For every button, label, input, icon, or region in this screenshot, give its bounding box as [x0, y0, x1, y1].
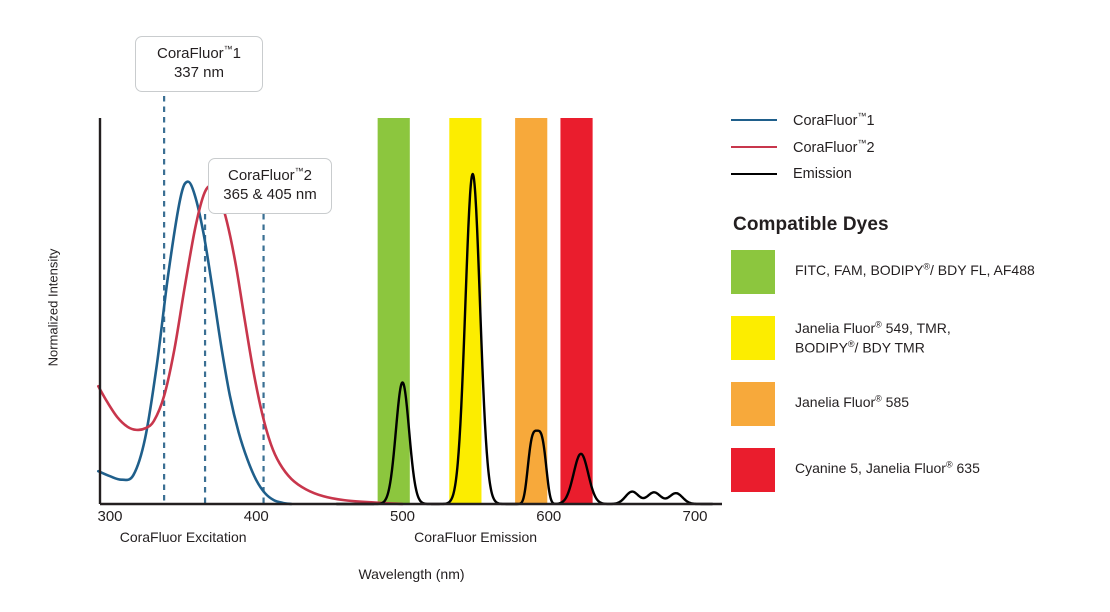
- x-tick-600: 600: [519, 508, 579, 525]
- legend-item-Emission[interactable]: Emission: [731, 160, 1091, 187]
- dye-label: FITC, FAM, BODIPY®/ BDY FL, AF488: [795, 250, 1035, 280]
- callout-cf2-line2: 365 & 405 nm: [221, 186, 319, 205]
- x-tick-300: 300: [80, 508, 140, 525]
- dye-row[interactable]: Janelia Fluor® 585: [731, 382, 1091, 426]
- dye-color-swatch: [731, 250, 775, 294]
- legend-item-CoraFluor1[interactable]: CoraFluor™1: [731, 106, 1091, 133]
- y-axis-label: Normalized Intensity: [46, 228, 61, 388]
- dye-label: Janelia Fluor® 549, TMR,BODIPY®/ BDY TMR: [795, 316, 951, 357]
- axis-section-emission: CoraFluor Emission: [356, 529, 596, 545]
- dye-color-swatch: [731, 382, 775, 426]
- dye-color-swatch: [731, 448, 775, 492]
- x-tick-500: 500: [373, 508, 433, 525]
- callout-cf2-line1: CoraFluor™2: [221, 166, 319, 186]
- compatible-dyes-list: FITC, FAM, BODIPY®/ BDY FL, AF488Janelia…: [731, 250, 1091, 492]
- fluorescence-spectra-figure: CoraFluor™1 337 nm CoraFluor™2 365 & 405…: [0, 0, 1110, 612]
- series-legend: CoraFluor™1CoraFluor™2Emission: [731, 106, 1091, 187]
- x-axis-label: Wavelength (nm): [0, 566, 823, 582]
- legend-item-label: CoraFluor™2: [793, 138, 875, 156]
- dye-row[interactable]: FITC, FAM, BODIPY®/ BDY FL, AF488: [731, 250, 1091, 294]
- dye-row[interactable]: Janelia Fluor® 549, TMR,BODIPY®/ BDY TMR: [731, 316, 1091, 360]
- legend-swatch-line: [731, 173, 777, 175]
- dye-label: Janelia Fluor® 585: [795, 382, 909, 412]
- x-tick-700: 700: [665, 508, 725, 525]
- callout-cf1-line2: 337 nm: [148, 64, 250, 83]
- legend-item-label: CoraFluor™1: [793, 111, 875, 129]
- axis-section-excitation: CoraFluor Excitation: [63, 529, 303, 545]
- compatible-dyes-heading: Compatible Dyes: [733, 214, 1091, 236]
- callout-corafluor1: CoraFluor™1 337 nm: [135, 36, 263, 92]
- dye-label: Cyanine 5, Janelia Fluor® 635: [795, 448, 980, 478]
- legend-item-label: Emission: [793, 166, 852, 182]
- legend-panel: CoraFluor™1CoraFluor™2Emission Compatibl…: [731, 106, 1091, 514]
- legend-swatch-line: [731, 146, 777, 148]
- legend-item-CoraFluor2[interactable]: CoraFluor™2: [731, 133, 1091, 160]
- x-tick-400: 400: [226, 508, 286, 525]
- dye-color-swatch: [731, 316, 775, 360]
- curve-CoraFluor2: [98, 186, 402, 504]
- red-band: [560, 118, 592, 504]
- callout-cf1-line1: CoraFluor™1: [148, 44, 250, 64]
- legend-swatch-line: [731, 119, 777, 121]
- callout-corafluor2: CoraFluor™2 365 & 405 nm: [208, 158, 332, 214]
- dye-row[interactable]: Cyanine 5, Janelia Fluor® 635: [731, 448, 1091, 492]
